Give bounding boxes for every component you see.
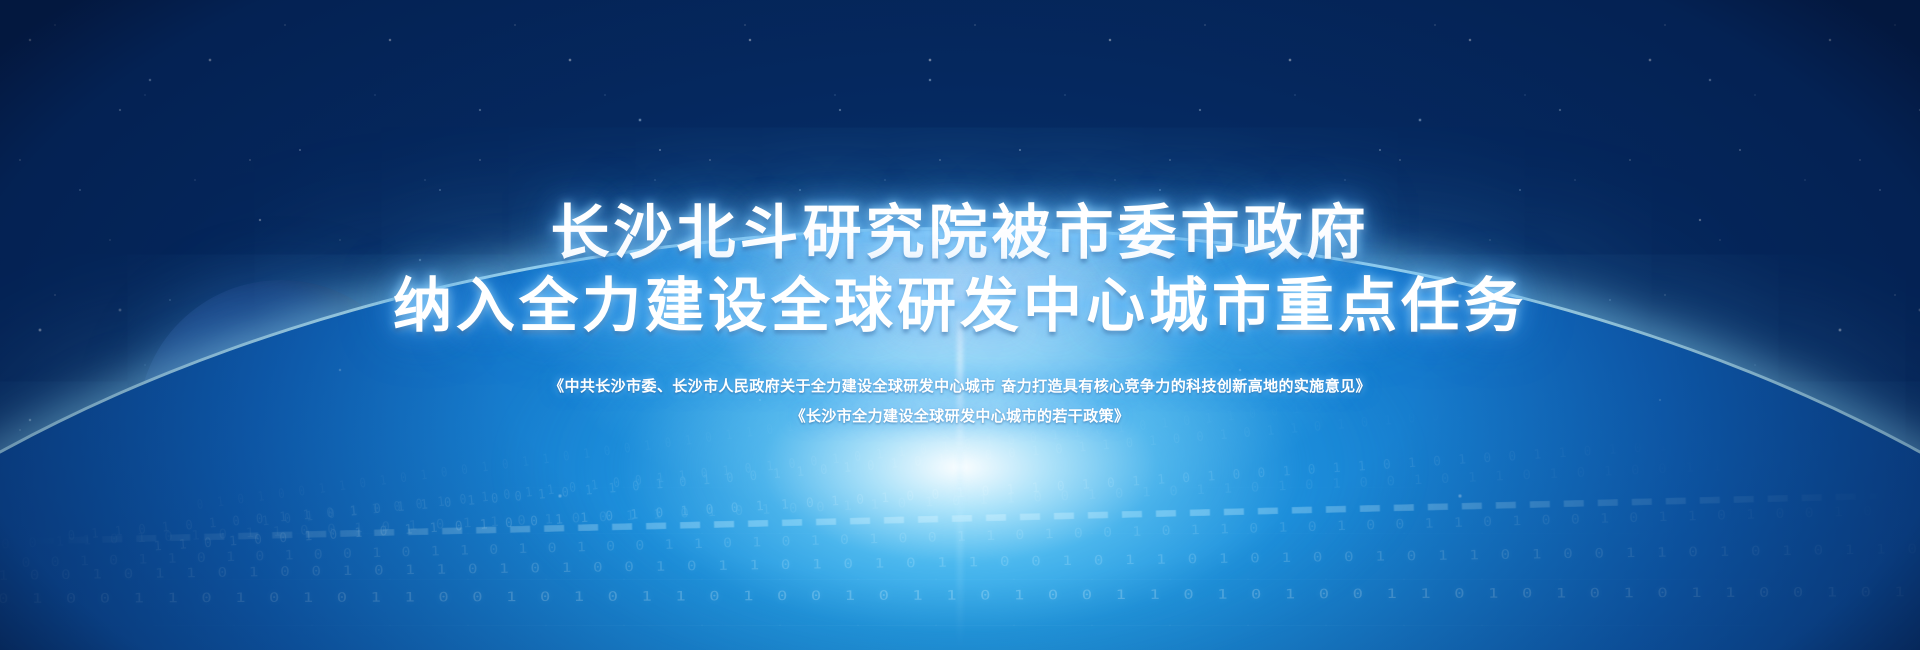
banner-subtitle-line-2: 《长沙市全力建设全球研发中心城市的若干政策》	[549, 401, 1371, 431]
banner-title-line-2: 纳入全力建设全球研发中心城市重点任务	[393, 269, 1527, 342]
hero-banner: 0 1 0 1 0 0 1 1 0 1 0 1 0 0 1 0 1 1 0 1 …	[0, 0, 1920, 650]
banner-content: 长沙北斗研究院被市委市政府 纳入全力建设全球研发中心城市重点任务 《中共长沙市委…	[0, 0, 1920, 650]
banner-subtitle-line-1: 《中共长沙市委、长沙市人民政府关于全力建设全球研发中心城市 奋力打造具有核心竞争…	[549, 371, 1371, 401]
banner-subtitle-group: 《中共长沙市委、长沙市人民政府关于全力建设全球研发中心城市 奋力打造具有核心竞争…	[549, 371, 1371, 431]
banner-title-line-1: 长沙北斗研究院被市委市政府	[550, 196, 1369, 269]
